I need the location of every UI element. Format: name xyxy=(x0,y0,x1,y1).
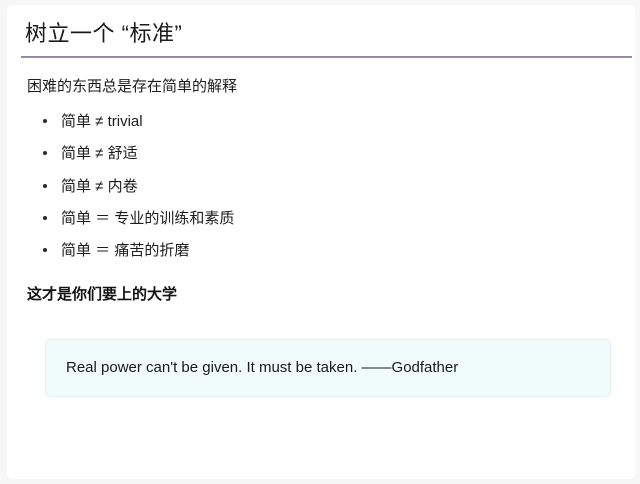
bullet-dot-icon xyxy=(43,216,47,220)
list-item-label: 简单 ＝ 痛苦的折磨 xyxy=(61,242,189,259)
list-item-label: 简单 ≠ trivial xyxy=(61,113,143,130)
list-item: 简单 ≠ trivial xyxy=(41,110,621,133)
quote-text: Real power can't be given. It must be ta… xyxy=(66,359,458,376)
list-item: 简单 ≠ 内卷 xyxy=(41,175,621,198)
list-item: 简单 ≠ 舒适 xyxy=(41,142,621,165)
bullet-dot-icon xyxy=(43,184,47,188)
title-divider xyxy=(21,56,632,58)
statement-text: 这才是你们要上的大学 xyxy=(27,284,621,307)
slide-body: 树立一个 “标准” 困难的东西总是存在简单的解释 简单 ≠ trivial 简单… xyxy=(7,5,635,397)
page-title: 树立一个 “标准” xyxy=(21,19,621,56)
bullet-dot-icon xyxy=(43,119,47,123)
list-item: 简单 ＝ 专业的训练和素质 xyxy=(41,207,621,230)
intro-paragraph: 困难的东西总是存在简单的解释 xyxy=(27,76,621,99)
bullet-dot-icon xyxy=(43,151,47,155)
bullet-dot-icon xyxy=(43,248,47,252)
list-item-label: 简单 ＝ 专业的训练和素质 xyxy=(61,210,234,227)
bullet-list: 简单 ≠ trivial 简单 ≠ 舒适 简单 ≠ 内卷 简单 ＝ 专业的训练和… xyxy=(21,110,621,262)
list-item-label: 简单 ≠ 舒适 xyxy=(61,145,138,162)
quote-callout: Real power can't be given. It must be ta… xyxy=(45,339,611,398)
slide-card: 树立一个 “标准” 困难的东西总是存在简单的解释 简单 ≠ trivial 简单… xyxy=(7,5,635,479)
list-item-label: 简单 ≠ 内卷 xyxy=(61,178,138,195)
list-item: 简单 ＝ 痛苦的折磨 xyxy=(41,239,621,262)
